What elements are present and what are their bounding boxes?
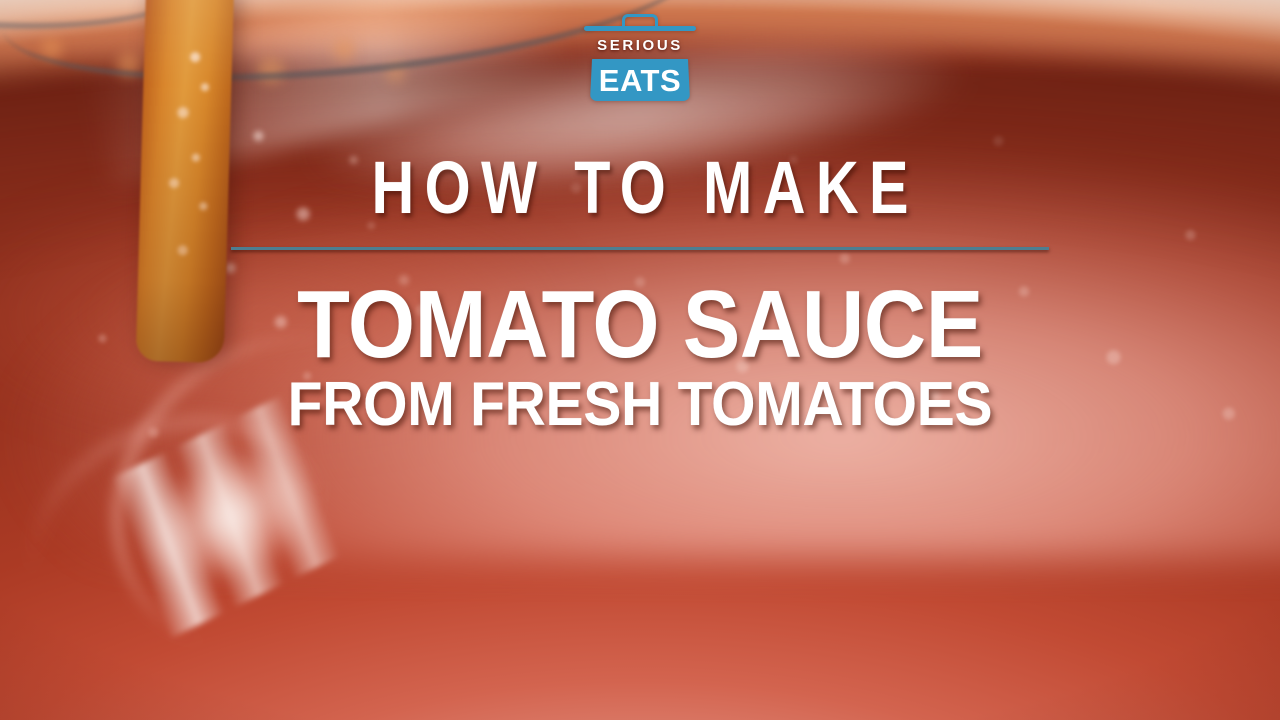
title-headline: TOMATO SAUCE xyxy=(64,280,1216,370)
title-kicker: HOW TO MAKE xyxy=(128,152,1152,223)
title-subhead: FROM FRESH TOMATOES xyxy=(51,374,1229,436)
title-block: HOW TO MAKE TOMATO SAUCE FROM FRESH TOMA… xyxy=(0,152,1280,436)
pot-lid-icon xyxy=(584,26,696,31)
serious-eats-logo[interactable]: SERIOUS EATS xyxy=(574,14,706,101)
cooking-pot-icon: EATS xyxy=(590,59,690,101)
logo-bottom-word: EATS xyxy=(599,65,681,96)
video-title-card: SERIOUS EATS HOW TO MAKE TOMATO SAUCE FR… xyxy=(0,0,1280,720)
title-divider-rule xyxy=(231,247,1049,250)
logo-top-word: SERIOUS xyxy=(597,38,683,53)
